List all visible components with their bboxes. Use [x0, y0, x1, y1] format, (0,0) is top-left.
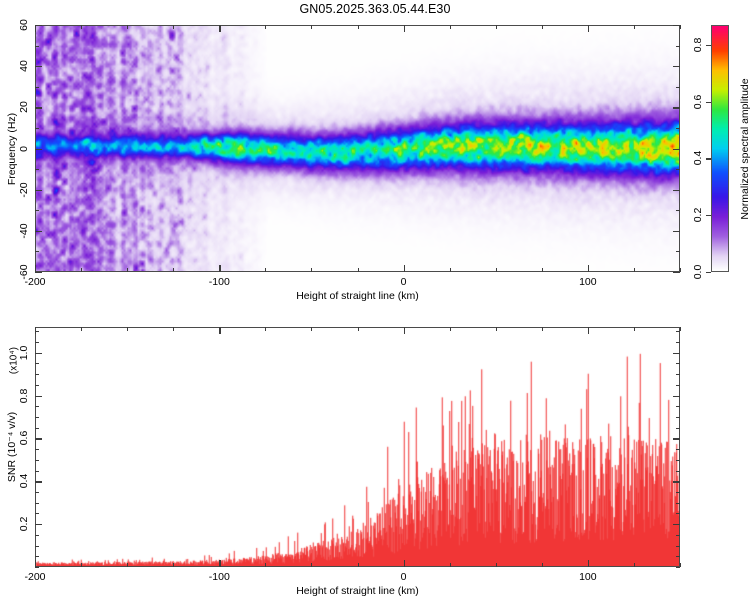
y-minor-tick	[676, 406, 680, 407]
x-tick-label: 100	[579, 571, 597, 583]
colorbar-tick	[706, 158, 711, 159]
x-minor-tick	[81, 327, 82, 331]
spectrogram-plot-area	[35, 25, 680, 272]
x-minor-tick	[127, 25, 128, 29]
x-minor-tick	[496, 563, 497, 567]
y-minor-tick	[35, 385, 39, 386]
x-minor-tick	[358, 268, 359, 272]
x-minor-tick	[358, 25, 359, 29]
y-minor-tick	[35, 428, 39, 429]
x-minor-tick	[311, 25, 312, 29]
x-minor-tick	[496, 268, 497, 272]
snr-axis-multiplier: (x10⁴)	[9, 347, 20, 374]
x-minor-tick	[127, 563, 128, 567]
y-tick-label: 1.0	[18, 345, 30, 360]
x-major-tick	[588, 265, 589, 272]
x-minor-tick	[311, 327, 312, 331]
x-minor-tick	[542, 563, 543, 567]
y-minor-tick	[676, 546, 680, 547]
y-minor-tick	[676, 331, 680, 332]
y-minor-tick	[676, 210, 680, 211]
x-minor-tick	[81, 268, 82, 272]
y-minor-tick	[35, 556, 39, 557]
y-major-tick	[673, 481, 680, 482]
x-tick-label: -100	[209, 571, 230, 583]
spectrogram-yaxis-label: Frequency (Hz)	[6, 112, 18, 184]
y-major-tick	[673, 66, 680, 67]
colorbar-tick-label: 0.6	[692, 94, 704, 109]
x-minor-tick	[496, 25, 497, 29]
x-minor-tick	[542, 25, 543, 29]
y-minor-tick	[676, 460, 680, 461]
figure-title: GN05.2025.363.05.44.E30	[0, 2, 750, 16]
x-tick-label: 100	[579, 276, 597, 288]
snr-xaxis-label: Height of straight line (km)	[296, 585, 419, 597]
y-major-tick	[35, 25, 42, 26]
x-minor-tick	[450, 25, 451, 29]
x-major-tick	[219, 560, 220, 567]
x-minor-tick	[542, 327, 543, 331]
colorbar-tick	[706, 45, 711, 46]
y-major-tick	[35, 396, 42, 397]
x-minor-tick	[496, 327, 497, 331]
x-tick-label: 0	[401, 571, 407, 583]
y-minor-tick	[35, 87, 39, 88]
y-tick-label: 40	[18, 60, 30, 72]
x-minor-tick	[680, 268, 681, 272]
figure-root: GN05.2025.363.05.44.E30 -200-1000100-60-…	[0, 0, 750, 600]
y-major-tick	[673, 25, 680, 26]
x-minor-tick	[81, 563, 82, 567]
x-major-tick	[404, 25, 405, 32]
colorbar-label: Normalized spectral amplitude	[739, 78, 750, 219]
y-major-tick	[673, 107, 680, 108]
x-major-tick	[35, 560, 36, 567]
y-minor-tick	[676, 46, 680, 47]
y-minor-tick	[35, 492, 39, 493]
x-major-tick	[588, 327, 589, 334]
y-major-tick	[35, 66, 42, 67]
y-major-tick	[35, 481, 42, 482]
y-major-tick	[35, 149, 42, 150]
colorbar-tick	[706, 102, 711, 103]
y-minor-tick	[35, 251, 39, 252]
x-minor-tick	[358, 327, 359, 331]
x-minor-tick	[127, 268, 128, 272]
x-minor-tick	[265, 327, 266, 331]
y-major-tick	[35, 107, 42, 108]
y-major-tick	[673, 353, 680, 354]
x-minor-tick	[265, 563, 266, 567]
x-minor-tick	[634, 327, 635, 331]
x-tick-label: -100	[209, 276, 230, 288]
spectrogram-xaxis-label: Height of straight line (km)	[296, 290, 419, 302]
x-major-tick	[35, 265, 36, 272]
y-major-tick	[673, 396, 680, 397]
y-tick-label: -40	[18, 223, 30, 238]
x-minor-tick	[173, 563, 174, 567]
y-minor-tick	[35, 471, 39, 472]
y-major-tick	[35, 524, 42, 525]
y-minor-tick	[676, 342, 680, 343]
y-minor-tick	[676, 128, 680, 129]
colorbar-tick-label: 0.8	[692, 38, 704, 53]
x-minor-tick	[265, 25, 266, 29]
y-tick-label: 0	[18, 146, 30, 152]
x-minor-tick	[450, 563, 451, 567]
y-tick-label: -60	[18, 264, 30, 279]
y-minor-tick	[676, 535, 680, 536]
x-major-tick	[588, 25, 589, 32]
y-minor-tick	[676, 567, 680, 568]
y-minor-tick	[35, 46, 39, 47]
x-minor-tick	[542, 268, 543, 272]
y-tick-label: 60	[18, 19, 30, 31]
x-minor-tick	[634, 563, 635, 567]
y-major-tick	[35, 353, 42, 354]
x-major-tick	[404, 265, 405, 272]
y-minor-tick	[35, 342, 39, 343]
x-minor-tick	[358, 563, 359, 567]
y-major-tick	[35, 190, 42, 191]
x-major-tick	[219, 327, 220, 334]
y-minor-tick	[35, 449, 39, 450]
x-major-tick	[404, 560, 405, 567]
x-minor-tick	[173, 268, 174, 272]
y-minor-tick	[676, 471, 680, 472]
y-minor-tick	[676, 87, 680, 88]
y-minor-tick	[676, 449, 680, 450]
y-major-tick	[35, 272, 42, 273]
y-minor-tick	[35, 374, 39, 375]
y-minor-tick	[676, 363, 680, 364]
y-major-tick	[673, 524, 680, 525]
y-minor-tick	[35, 417, 39, 418]
y-major-tick	[673, 190, 680, 191]
x-minor-tick	[450, 268, 451, 272]
y-minor-tick	[35, 331, 39, 332]
y-minor-tick	[35, 363, 39, 364]
x-minor-tick	[127, 327, 128, 331]
y-minor-tick	[676, 169, 680, 170]
y-tick-label: 0.6	[18, 431, 30, 446]
y-minor-tick	[35, 406, 39, 407]
x-minor-tick	[173, 25, 174, 29]
colorbar-tick	[706, 215, 711, 216]
x-tick-label: 0	[401, 276, 407, 288]
colorbar-tick-label: 0.4	[692, 151, 704, 166]
y-tick-label: 0.8	[18, 388, 30, 403]
x-minor-tick	[680, 327, 681, 331]
y-minor-tick	[35, 535, 39, 536]
colorbar-gradient	[712, 26, 728, 271]
y-minor-tick	[35, 169, 39, 170]
y-major-tick	[673, 149, 680, 150]
snr-trace	[36, 328, 679, 566]
y-minor-tick	[676, 385, 680, 386]
y-minor-tick	[676, 513, 680, 514]
y-minor-tick	[676, 428, 680, 429]
y-minor-tick	[35, 513, 39, 514]
y-tick-label: 0.4	[18, 474, 30, 489]
x-minor-tick	[634, 25, 635, 29]
y-minor-tick	[35, 567, 39, 568]
y-minor-tick	[35, 546, 39, 547]
y-minor-tick	[676, 374, 680, 375]
x-minor-tick	[311, 268, 312, 272]
colorbar-tick	[706, 272, 711, 273]
x-minor-tick	[634, 268, 635, 272]
x-minor-tick	[265, 268, 266, 272]
y-minor-tick	[676, 251, 680, 252]
y-major-tick	[35, 231, 42, 232]
y-minor-tick	[35, 210, 39, 211]
x-major-tick	[219, 25, 220, 32]
x-minor-tick	[81, 25, 82, 29]
y-minor-tick	[35, 128, 39, 129]
spectrogram-image	[36, 26, 679, 271]
colorbar	[711, 25, 729, 272]
y-tick-label: 0.2	[18, 517, 30, 532]
y-minor-tick	[35, 460, 39, 461]
y-minor-tick	[35, 503, 39, 504]
y-tick-label: 20	[18, 101, 30, 113]
x-minor-tick	[680, 25, 681, 29]
y-minor-tick	[676, 556, 680, 557]
x-major-tick	[404, 327, 405, 334]
y-major-tick	[673, 272, 680, 273]
x-major-tick	[219, 265, 220, 272]
snr-yaxis-label: SNR (10⁻⁴ v/v)	[6, 412, 18, 482]
x-minor-tick	[680, 563, 681, 567]
y-tick-label: -20	[18, 182, 30, 197]
snr-plot-area	[35, 327, 680, 567]
x-major-tick	[588, 560, 589, 567]
x-minor-tick	[450, 327, 451, 331]
y-minor-tick	[676, 503, 680, 504]
colorbar-tick-label: 0.2	[692, 208, 704, 223]
x-tick-label: -200	[24, 571, 45, 583]
y-minor-tick	[676, 417, 680, 418]
x-minor-tick	[311, 563, 312, 567]
y-major-tick	[673, 438, 680, 439]
y-minor-tick	[676, 492, 680, 493]
y-major-tick	[35, 438, 42, 439]
colorbar-tick-label: 0.0	[692, 265, 704, 280]
y-major-tick	[673, 231, 680, 232]
x-minor-tick	[173, 327, 174, 331]
